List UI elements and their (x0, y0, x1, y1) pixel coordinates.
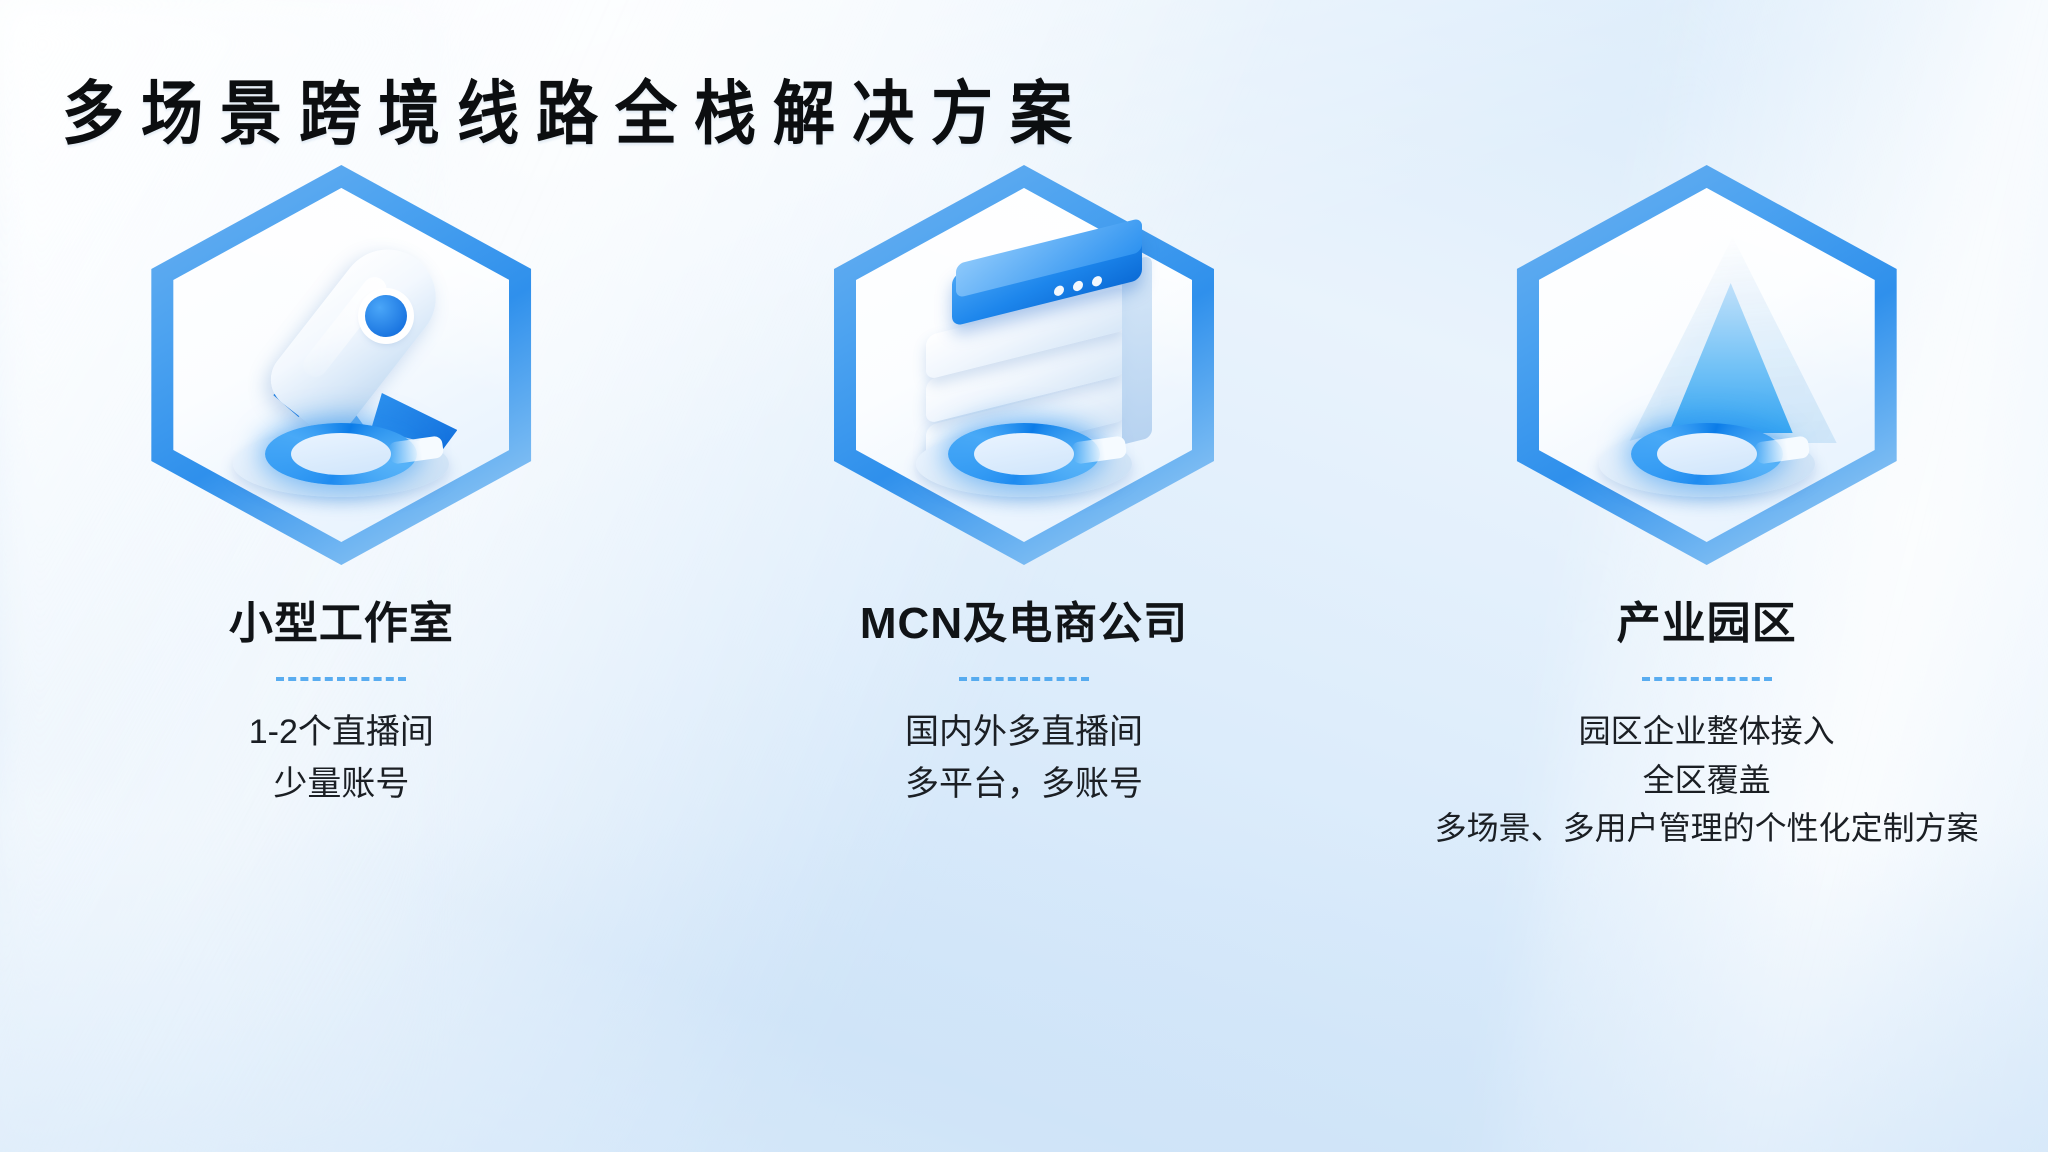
card-title: 产业园区 (1617, 587, 1797, 651)
card-description: 园区企业整体接入 全区覆盖 多场景、多用户管理的个性化定制方案 (1435, 707, 1979, 853)
server-stack-icon (834, 165, 1214, 565)
card-line: 1-2个直播间 (249, 707, 434, 759)
glowing-disc-base (233, 417, 449, 503)
card-description: 1-2个直播间 少量账号 (249, 707, 434, 810)
card-line: 少量账号 (249, 759, 434, 811)
card-line: 国内外多直播间 (905, 707, 1143, 759)
card-divider (276, 677, 406, 681)
card-divider (1642, 677, 1772, 681)
card-line: 全区覆盖 (1435, 756, 1979, 805)
rocket-icon (151, 165, 531, 565)
card-line: 多场景、多用户管理的个性化定制方案 (1435, 804, 1979, 853)
card-description: 国内外多直播间 多平台，多账号 (905, 707, 1143, 810)
disc-hole (1657, 433, 1757, 475)
glowing-disc-base (916, 417, 1132, 503)
card-line: 园区企业整体接入 (1435, 707, 1979, 756)
card-title: MCN及电商公司 (860, 587, 1188, 651)
rocket-body (259, 230, 455, 444)
glowing-disc-base (1599, 417, 1815, 503)
disc-hole (291, 433, 391, 475)
pyramid-edge-highlight (1629, 237, 1837, 443)
page-title: 多场景跨境线路全栈解决方案 (62, 57, 1089, 158)
card-divider (959, 677, 1089, 681)
solution-card-industrial-park[interactable]: 产业园区 园区企业整体接入 全区覆盖 多场景、多用户管理的个性化定制方案 (1365, 165, 2048, 1065)
card-line: 多平台，多账号 (905, 759, 1143, 811)
disc-hole (974, 433, 1074, 475)
solution-card-group: 小型工作室 1-2个直播间 少量账号 (0, 165, 2048, 1065)
solution-card-mcn-ecommerce[interactable]: MCN及电商公司 国内外多直播间 多平台，多账号 (683, 165, 1366, 1065)
solution-card-small-studio[interactable]: 小型工作室 1-2个直播间 少量账号 (0, 165, 683, 1065)
pyramid-icon (1517, 165, 1897, 565)
card-title: 小型工作室 (229, 587, 454, 651)
